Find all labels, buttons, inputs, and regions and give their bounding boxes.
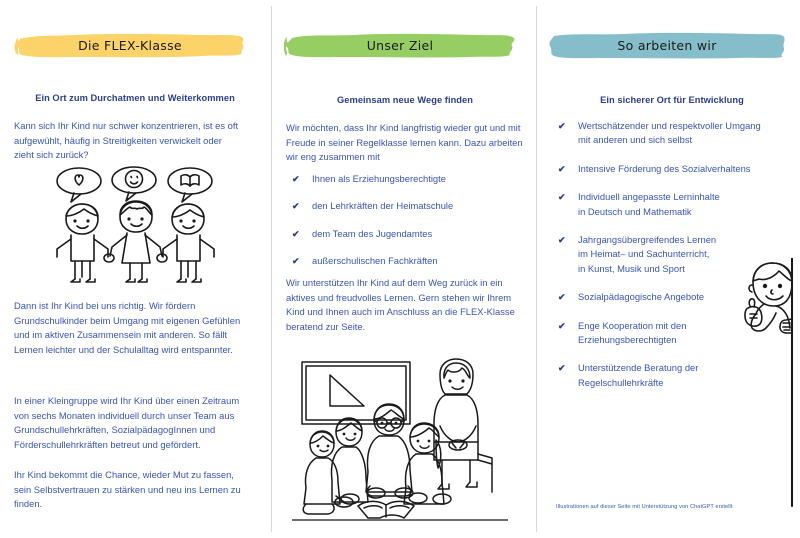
mid-bullet-list: ✔ Ihnen als Erziehungsberechtigte ✔ den … (286, 172, 534, 282)
column-flex-klasse: Ein Ort zum Durchatmen und Weiterkommen … (0, 0, 268, 538)
list-item: ✔ den Lehrkräften der Heimatschule (286, 199, 534, 213)
list-item-label: Intensive Förderung des Sozialverhaltens (578, 163, 751, 174)
check-icon: ✔ (558, 162, 566, 176)
column-so-arbeiten-wir: Ein sicherer Ort für Entwicklung ✔ Werts… (540, 0, 800, 538)
list-item-label: Ihnen als Erziehungsberechtigte (312, 173, 446, 184)
check-icon: ✔ (292, 254, 300, 268)
flyer-page: Die FLEX-Klasse Unser Ziel So arbeiten w… (0, 0, 800, 538)
check-icon: ✔ (558, 361, 566, 375)
check-icon: ✔ (558, 233, 566, 247)
check-icon: ✔ (292, 199, 300, 213)
check-icon: ✔ (558, 119, 566, 133)
check-icon: ✔ (558, 290, 566, 304)
check-icon: ✔ (292, 172, 300, 186)
mid-intro-paragraph: Wir möchten, dass Ihr Kind langfristig w… (286, 121, 526, 165)
list-item-label: Jahrgangsübergreifendes Lernenim Heimat–… (578, 234, 716, 274)
left-paragraph-3: In einer Kleingruppe wird Ihr Kind über … (14, 394, 246, 452)
list-item: ✔ Ihnen als Erziehungsberechtigte (286, 172, 534, 186)
column-divider-left (271, 6, 272, 532)
list-item: ✔ Individuell angepasste Lerninhaltein D… (552, 190, 788, 219)
list-item: ✔ dem Team des Jugendamtes (286, 227, 534, 241)
left-sub-heading: Ein Ort zum Durchatmen und Weiterkommen (14, 93, 256, 103)
column-divider-right (536, 6, 537, 532)
list-item-label: dem Team des Jugendamtes (312, 228, 432, 239)
classroom-teacher-and-children-illustration (292, 356, 508, 527)
right-sub-heading: Ein sicherer Ort für Entwicklung (550, 95, 794, 105)
speech-bubble-heart-icon (57, 168, 101, 194)
triangle-drawing-icon (330, 375, 364, 406)
list-item: ✔ Intensive Förderung des Sozialverhalte… (552, 162, 788, 176)
list-item-label: Individuell angepasste Lerninhaltein Deu… (578, 191, 720, 216)
check-icon: ✔ (558, 319, 566, 333)
list-item-label: Wertschätzender und respektvoller Umgang… (578, 120, 761, 145)
left-intro-paragraph: Kann sich Ihr Kind nur schwer konzentrie… (14, 119, 244, 163)
mid-outro-paragraph: Wir unterstützen Ihr Kind auf dem Weg zu… (286, 276, 526, 334)
illustration-credit: Illustrationen auf dieser Seite mit Unte… (556, 504, 786, 510)
column-unser-ziel: Gemeinsam neue Wege finden Wir möchten, … (276, 0, 534, 538)
list-item-label: Unterstützende Beratung derRegelschulleh… (578, 362, 698, 387)
blackboard-icon (302, 362, 410, 424)
list-item-label: Enge Kooperation mit denErziehungsberech… (578, 320, 686, 345)
boy-peeking-thumbs-up-illustration (740, 258, 800, 513)
mid-sub-heading: Gemeinsam neue Wege finden (286, 95, 524, 105)
check-icon: ✔ (558, 190, 566, 204)
list-item-label: den Lehrkräften der Heimatschule (312, 200, 453, 211)
list-item-label: außerschulischen Fachkräften (312, 255, 438, 266)
list-item: ✔ Wertschätzender und respektvoller Umga… (552, 119, 788, 148)
check-icon: ✔ (292, 227, 300, 241)
three-children-holding-hands-illustration (44, 163, 226, 290)
left-paragraph-2: Dann ist Ihr Kind bei uns richtig. Wir f… (14, 299, 244, 357)
left-paragraph-4: Ihr Kind bekommt die Chance, wieder Mut … (14, 468, 242, 512)
list-item-label: Sozialpädagogische Angebote (578, 291, 704, 302)
list-item: ✔ außerschulischen Fachkräften (286, 254, 534, 268)
